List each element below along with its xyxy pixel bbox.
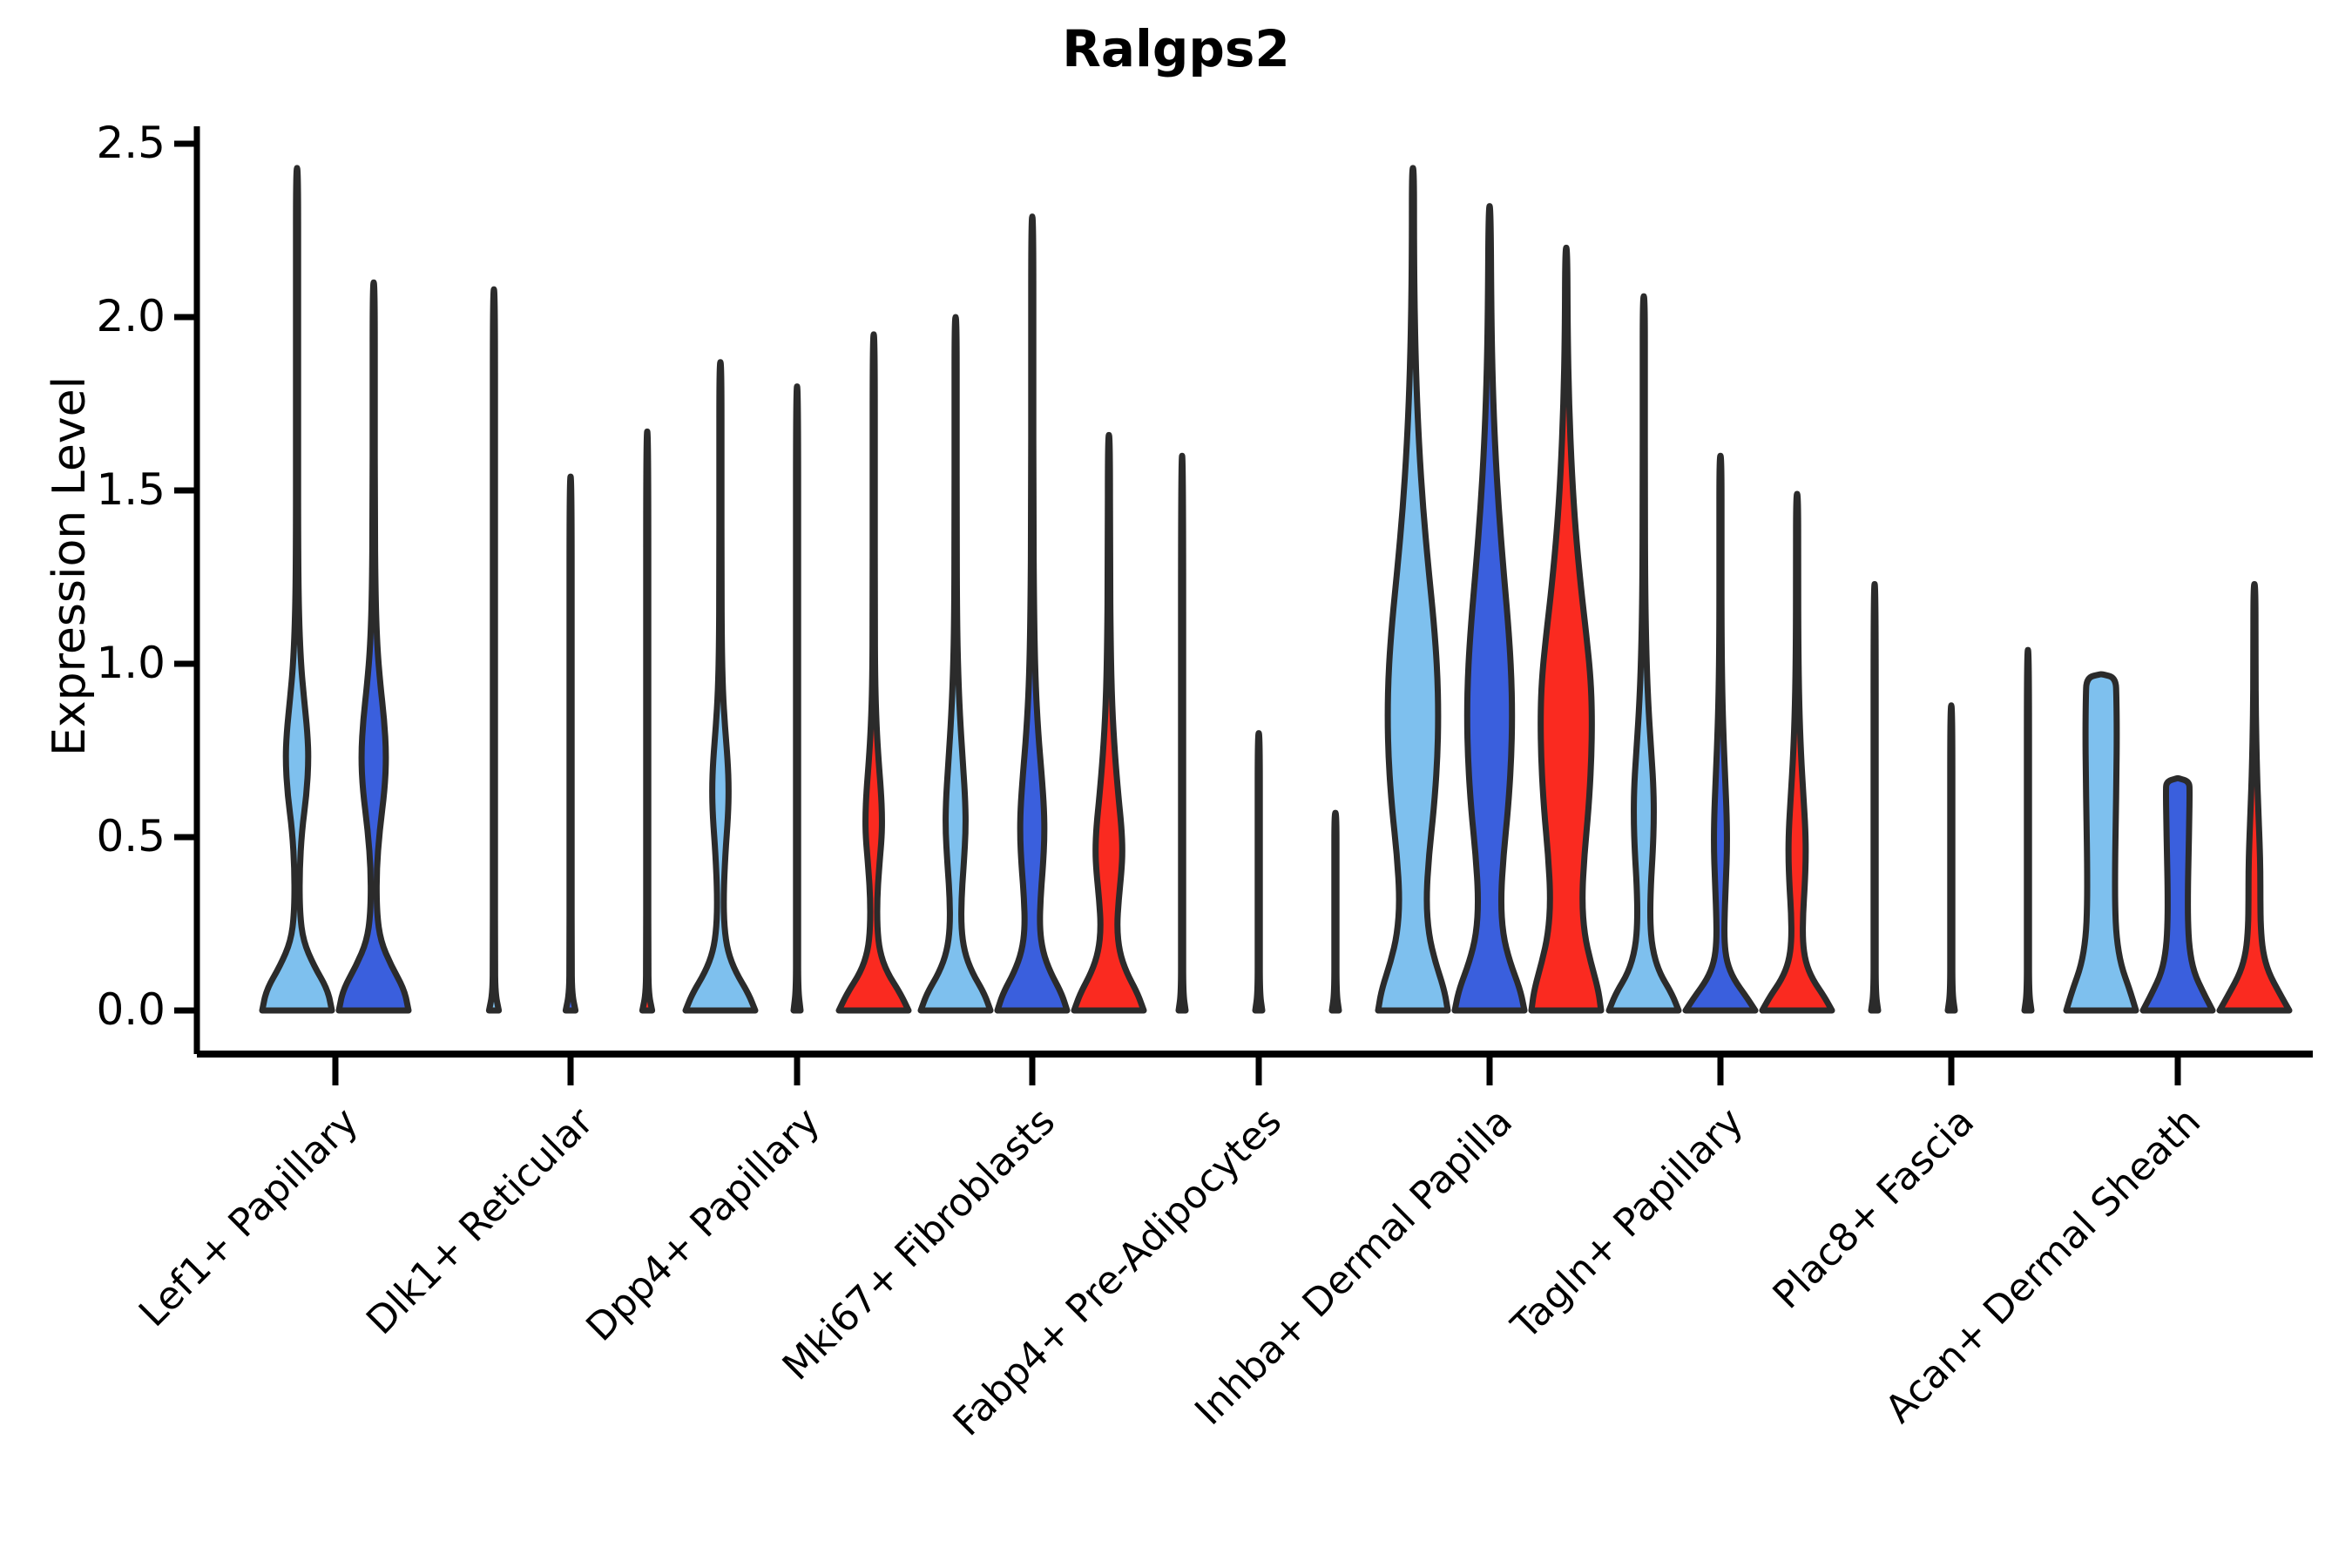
- violin-dpp4-papillary-group-2: [794, 387, 801, 1010]
- y-axis-ticks: [174, 144, 197, 1010]
- violin-plac8-fascia-group-3: [2024, 650, 2031, 1010]
- violin-dlk1-reticular-group-1: [489, 289, 498, 1010]
- violin-dlk1-reticular-group-3: [642, 431, 652, 1010]
- violin-tagln-papillary-group-3: [1762, 494, 1832, 1010]
- violin-inhba-dermal-papilla-group-3: [1531, 247, 1601, 1010]
- violin-fabp4-pre-adipocytes-group-2: [1255, 733, 1262, 1010]
- violin-acan-dermal-sheath-group-3: [2220, 584, 2289, 1010]
- violin-fabp4-pre-adipocytes-group-3: [1332, 813, 1339, 1010]
- violin-inhba-dermal-papilla-group-2: [1455, 206, 1524, 1010]
- violin-lef1-papillary-group-1: [262, 168, 332, 1010]
- violin-plot-figure: Ralgps2 Expression Level 0.00.51.01.52.0…: [0, 0, 2352, 1568]
- violin-mki67-fibroblasts-group-3: [1074, 435, 1144, 1010]
- violin-tagln-papillary-group-1: [1609, 296, 1679, 1010]
- violin-acan-dermal-sheath-group-1: [2066, 674, 2136, 1010]
- violin-dpp4-papillary-group-1: [686, 362, 755, 1010]
- violin-fabp4-pre-adipocytes-group-1: [1179, 456, 1186, 1010]
- violin-plac8-fascia-group-2: [1948, 706, 1955, 1010]
- x-axis-ticks: [335, 1054, 2178, 1085]
- violins-layer: [262, 168, 2289, 1010]
- violin-acan-dermal-sheath-group-2: [2143, 778, 2213, 1010]
- violin-dlk1-reticular-group-2: [565, 476, 575, 1010]
- violin-mki67-fibroblasts-group-2: [997, 217, 1067, 1010]
- violin-tagln-papillary-group-2: [1686, 456, 1755, 1010]
- violin-dpp4-papillary-group-3: [839, 335, 909, 1010]
- violin-plac8-fascia-group-1: [1871, 584, 1878, 1010]
- violin-inhba-dermal-papilla-group-1: [1378, 168, 1448, 1010]
- violin-mki67-fibroblasts-group-1: [921, 317, 990, 1010]
- violin-lef1-papillary-group-2: [339, 282, 409, 1010]
